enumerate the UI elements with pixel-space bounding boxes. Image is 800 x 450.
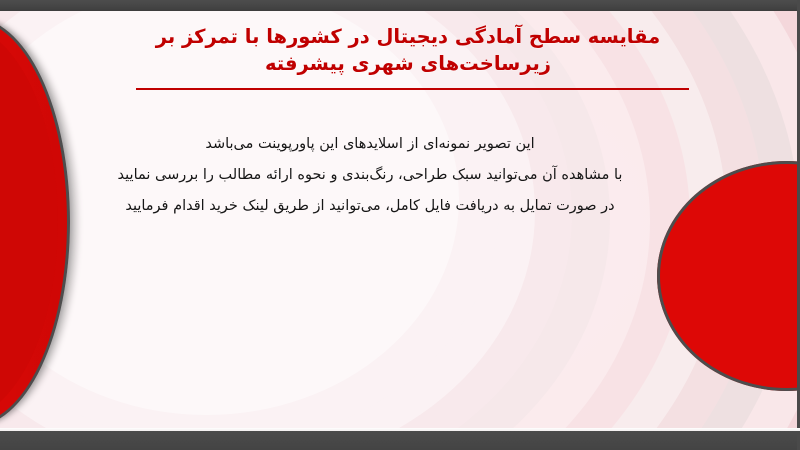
slide-body-line-3: در صورت تمایل به دریافت فایل کامل، می‌تو… [60,191,680,222]
slide-body-line-1: این تصویر نمونه‌ای از اسلایدهای این پاور… [60,129,680,160]
slide-body-text: این تصویر نمونه‌ای از اسلایدهای این پاور… [60,129,680,222]
slide-canvas: مقایسه سطح آمادگی دیجیتال در کشورها با ت… [0,11,797,432]
slide-frame-top [0,0,800,11]
slide-frame-bottom-highlight [0,428,800,431]
presentation-slide: مقایسه سطح آمادگی دیجیتال در کشورها با ت… [0,0,800,450]
slide-title-line-1: مقایسه سطح آمادگی دیجیتال در کشورها با ت… [118,23,698,50]
slide-frame-bottom [0,431,800,450]
slide-title-line-2: زیرساخت‌های شهری پیشرفته [118,50,698,77]
slide-title: مقایسه سطح آمادگی دیجیتال در کشورها با ت… [118,23,698,77]
slide-body-line-2: با مشاهده آن می‌توانید سبک طراحی، رنگ‌بن… [60,160,680,191]
title-underline-rule [136,88,689,90]
